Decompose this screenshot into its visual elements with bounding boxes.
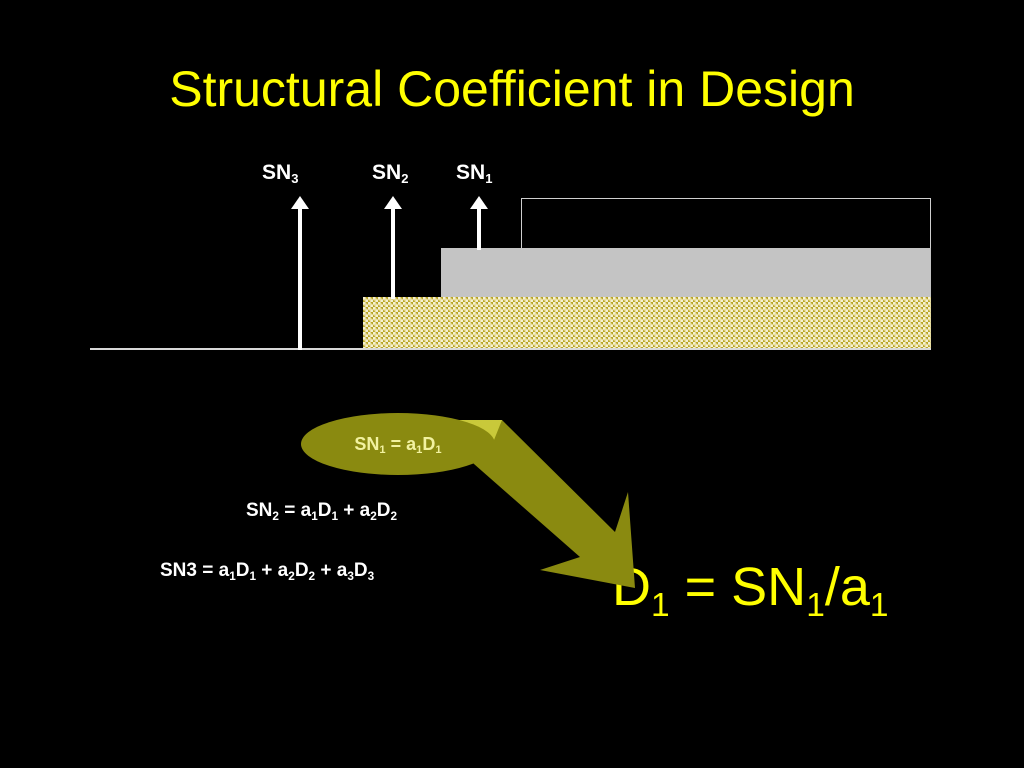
result-sub-1: 1 (806, 587, 825, 624)
result-part-1: = SN (670, 557, 807, 617)
formula-sn3-sub-4: 2 (309, 570, 316, 583)
callout-sub-1: 1 (416, 444, 422, 456)
formula-sn3-sub-5: 3 (347, 570, 354, 583)
ground-line (90, 348, 931, 350)
formula-sn3-part-1: = a (197, 560, 229, 581)
formula-sn3-part-6: D (354, 560, 368, 581)
sn3-label-base: SN (262, 161, 291, 184)
formula-sn3-part-5: + a (315, 560, 347, 581)
formula-sn2-part-2: D (318, 500, 332, 521)
result-sub-0: 1 (651, 587, 670, 624)
callout-oval-equation: SN1 = a1D1 (354, 434, 441, 455)
formula-sn2-sub-0: 2 (272, 510, 279, 523)
formula-sn2-part-1: = a (279, 500, 311, 521)
sn1-label-subscript: 1 (485, 171, 492, 186)
callout-part-0: SN (354, 434, 379, 454)
formula-sn2-part-4: D (377, 500, 391, 521)
callout-oval: SN1 = a1D1 (301, 413, 495, 475)
arrow-shaft (477, 205, 481, 250)
arrow-shaft (298, 205, 302, 350)
sn3-label-subscript: 3 (291, 171, 298, 186)
formula-sn3-part-2: D (236, 560, 250, 581)
callout-part-2: D (422, 434, 435, 454)
sn2-label-subscript: 2 (401, 171, 408, 186)
sn2-label: SN2 (372, 161, 408, 185)
formula-sn3-part-0: SN3 (160, 560, 197, 581)
sn1-label-base: SN (456, 161, 485, 184)
formula-sn2-part-3: + a (338, 500, 370, 521)
formula-sn3-part-4: D (295, 560, 309, 581)
formula-sn2: SN2 = a1D1 + a2D2 (246, 500, 397, 522)
sn2-label-base: SN (372, 161, 401, 184)
result-equation: D1 = SN1/a1 (612, 556, 888, 618)
callout-sub-2: 1 (435, 444, 441, 456)
sn3-measure-arrow (291, 196, 309, 350)
formula-sn2-sub-3: 2 (370, 510, 377, 523)
pavement-base-layer (441, 248, 931, 297)
formula-sn2-part-0: SN (246, 500, 272, 521)
sn1-label: SN1 (456, 161, 492, 185)
result-part-2: /a (825, 557, 870, 617)
formula-sn2-sub-1: 1 (311, 510, 318, 523)
result-sub-2: 1 (870, 587, 889, 624)
pavement-surface-layer (521, 198, 931, 249)
callout-part-1: = a (386, 434, 417, 454)
sn1-measure-arrow (470, 196, 488, 250)
arrow-shaft (391, 205, 395, 299)
formula-sn3-sub-1: 1 (229, 570, 236, 583)
sn3-label: SN3 (262, 161, 298, 185)
formula-sn3-sub-6: 3 (368, 570, 375, 583)
formula-sn3-sub-3: 2 (288, 570, 295, 583)
formula-sn3: SN3 = a1D1 + a2D2 + a3D3 (160, 560, 374, 582)
callout-sub-0: 1 (379, 444, 385, 456)
formula-sn2-sub-2: 1 (331, 510, 338, 523)
sn2-measure-arrow (384, 196, 402, 299)
formula-sn2-sub-4: 2 (391, 510, 398, 523)
formula-sn3-part-3: + a (256, 560, 288, 581)
formula-sn3-sub-2: 1 (249, 570, 256, 583)
pavement-layer-diagram: SN3 SN2 SN1 (0, 0, 1024, 400)
pavement-subbase-layer (363, 297, 931, 349)
slide-canvas: Structural Coefficient in Design SN3 SN2… (0, 0, 1024, 768)
